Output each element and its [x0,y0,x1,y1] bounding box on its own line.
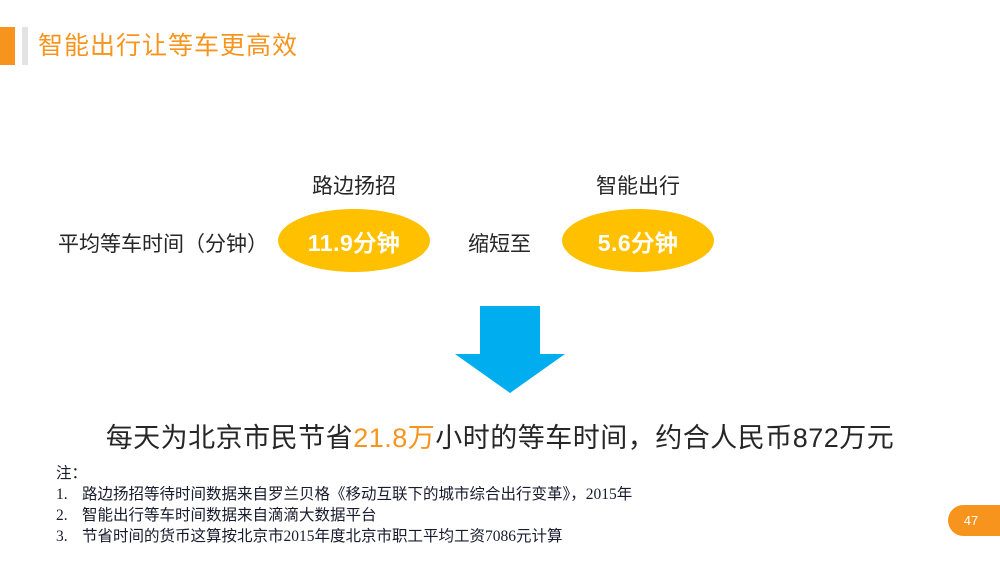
footnote-item: 1. 路边扬招等待时间数据来自罗兰贝格《移动互联下的城市综合出行变革》，2015… [56,484,632,505]
bubble-caption-right: 智能出行 [562,170,714,200]
footnote-number: 1. [56,484,82,505]
header-accent-bar [0,27,15,65]
arrow-down-icon [455,306,565,393]
footnote-item: 3. 节省时间的货币这算按北京市2015年度北京市职工平均工资7086元计算 [56,526,632,547]
slide-header: 智能出行让等车更高效 [0,27,298,65]
page-number-badge: 47 [948,505,1000,536]
footnotes-title: 注： [56,463,632,484]
reduction-label: 缩短至 [468,228,531,258]
page-title: 智能出行让等车更高效 [38,34,298,59]
conclusion-highlight: 21.8万 [353,423,435,453]
footnote-text: 节省时间的货币这算按北京市2015年度北京市职工平均工资7086元计算 [82,526,563,547]
conclusion-suffix: 小时的等车时间，约合人民币872万元 [435,423,894,453]
footnote-text: 智能出行等车时间数据来自滴滴大数据平台 [82,505,377,526]
footnote-item: 2. 智能出行等车时间数据来自滴滴大数据平台 [56,505,632,526]
header-divider-bar [22,27,28,65]
metric-bubble-smart: 5.6分钟 [562,209,714,272]
metric-bubble-roadside: 11.9分钟 [278,209,430,272]
footnote-number: 2. [56,505,82,526]
metric-row-label: 平均等车时间（分钟） [58,228,268,258]
footnotes: 注： 1. 路边扬招等待时间数据来自罗兰贝格《移动互联下的城市综合出行变革》，2… [56,463,632,547]
footnote-number: 3. [56,526,82,547]
footnote-text: 路边扬招等待时间数据来自罗兰贝格《移动互联下的城市综合出行变革》，2015年 [82,484,632,505]
conclusion-prefix: 每天为北京市民节省 [106,423,354,453]
conclusion-statement: 每天为北京市民节省21.8万小时的等车时间，约合人民币872万元 [0,416,1000,455]
bubble-caption-left: 路边扬招 [278,170,430,200]
